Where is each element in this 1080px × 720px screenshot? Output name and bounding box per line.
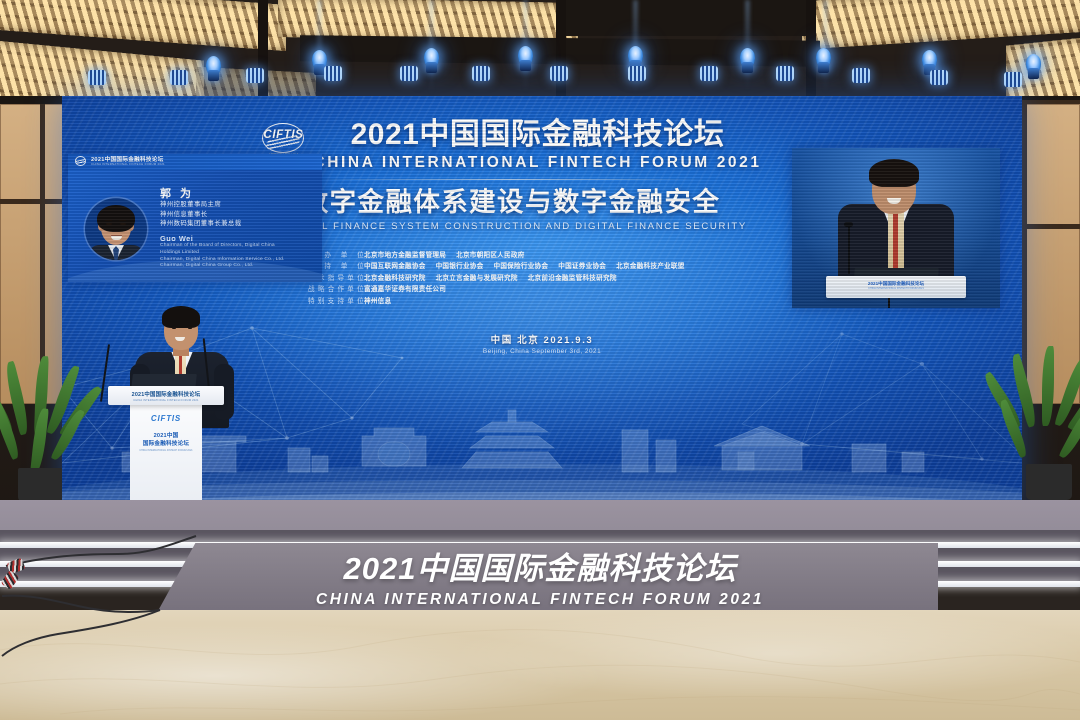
plant-pot [1026,464,1072,500]
speaker-title-cn: 神州信息董事长 [160,210,312,219]
organizer-values: 北京市地方金融监督管理局北京市朝阳区人民政府 [364,251,535,260]
par-can-light [930,70,948,85]
speaker-card-header-en: CHINA INTERNATIONAL FINTECH FORUM 2021 [91,163,165,167]
organizer-row: 主办单位 北京市地方金融监督管理局北京市朝阳区人民政府 [308,251,778,260]
podium-ciftis-logo-text: CIFTIS [120,414,212,423]
ceiling-dark-bay [560,0,810,36]
speaker-info-card: 2021中国国际金融科技论坛 CHINA INTERNATIONAL FINTE… [68,154,322,282]
microphone-stem [848,226,850,274]
organizer-key: 战略合作单位 [308,285,364,294]
wall-seam [0,199,66,204]
stage-light-fixture [816,48,831,72]
podium-front-cn2: 国际金融科技论坛 [120,439,212,447]
stage-light-fixture [424,48,439,72]
speaker-eye [188,327,192,329]
banner-divider [315,179,707,180]
video-podium: 2021中国国际金融科技论坛 CHINA INTERNATIONAL FINTE… [826,276,966,298]
organizer-values: 富通嘉华证券有限责任公司 [364,285,456,294]
speaker-eye [172,327,176,329]
organizer-key: 特别支持单位 [308,297,364,306]
par-can-light [472,66,490,81]
speaker-title-en: Holdings Limited [160,250,312,257]
light-beam [318,0,321,92]
speaker-name-en: Guo Wei [160,234,312,243]
avatar-portrait [85,198,147,260]
plant-pot [18,468,62,502]
speaker-card-header: 2021中国国际金融科技论坛 CHINA INTERNATIONAL FINTE… [68,154,322,170]
live-video-panel: 2021中国国际金融科技论坛 CHINA INTERNATIONAL FINTE… [792,148,1000,308]
forum-headline-cn: 2021中国国际金融科技论坛 [313,120,761,150]
forum-theme-en: DIGITAL FINANCE SYSTEM CONSTRUCTION AND … [281,221,741,232]
speaker-name-cn: 郭 为 [160,188,312,200]
speaker-title-cn: 神州数码集团董事长兼总裁 [160,219,312,228]
ceiling-light-panel [0,0,286,51]
speaker-eye [900,184,906,187]
potted-palm-right [1012,346,1080,506]
organizer-row: 学术指导单位 北京金融科技研究院北京立言金融与发展研究院北京前沿金融监管科技研究… [308,274,778,283]
par-can-light [776,66,794,81]
microphone-head [844,222,853,227]
par-can-light [170,70,188,85]
organizer-values: 北京金融科技研究院北京立言金融与发展研究院北京前沿金融监管科技研究院 [364,274,627,283]
organizer-row: 特别支持单位 神州信息 [308,297,778,306]
podium-front-cn: 2021中国 [120,431,212,439]
organizer-values: 中国互联网金融协会中国银行业协会中国保险行业协会中国证券业协会北京金融科技产业联… [364,262,695,271]
par-can-light [324,66,342,81]
par-can-light [1004,72,1022,87]
par-can-light [400,66,418,81]
organizer-values: 神州信息 [364,297,401,306]
light-beam [824,0,827,94]
speaker-hair [869,159,919,187]
potted-palm-left [2,356,76,506]
stage-light-fixture [740,48,755,72]
forum-headline-en: CHINA INTERNATIONAL FINTECH FORUM 2021 [313,153,761,172]
stage-cables [0,500,400,700]
speaker-details: 郭 为 神州控股董事局主席 神州信息董事长 神州数码集团董事长兼总裁 Guo W… [160,188,312,270]
organizer-row: 支持单位 中国互联网金融协会中国银行业协会中国保险行业协会中国证券业协会北京金融… [308,262,778,271]
stage-light-fixture [1026,54,1041,78]
speaker-avatar [85,198,147,260]
ciftis-logo-text: CIFTIS [260,129,306,141]
conference-stage-scene: CIFTIS 中国国际服务贸易交易会 2021中国国际金融科技论坛 CHINA … [0,0,1080,720]
speaker-hair [162,306,200,328]
par-can-light [852,68,870,83]
forum-theme-cn: 数字金融体系建设与数字金融安全 [281,189,741,217]
podium-nameplate-cn: 2021中国国际金融科技论坛 [108,390,224,398]
video-podium-label-en: CHINA INTERNATIONAL FINTECH FORUM 2021 [826,287,966,290]
stage-light-fixture [206,56,221,80]
podium-front-branding: CIFTIS 2021中国 国际金融科技论坛 CHINA INTERNATION… [120,414,212,452]
forum-banner: CIFTIS 中国国际服务贸易交易会 2021中国国际金融科技论坛 CHINA … [281,120,741,232]
podium-front-en: CHINA INTERNATIONAL FINTECH FORUM 2021 [120,449,212,452]
par-can-light [550,66,568,81]
organizer-list: 主办单位 北京市地方金融监督管理局北京市朝阳区人民政府 支持单位 中国互联网金融… [308,251,778,308]
par-can-light [88,70,106,85]
microphone-stem [888,298,890,308]
par-can-light [628,66,646,81]
light-beam [746,0,749,92]
organizer-row: 战略合作单位 富通嘉华证券有限责任公司 [308,285,778,294]
ciftis-mini-logo-icon [74,156,87,168]
par-can-light [246,68,264,83]
speaker-title-cn: 神州控股董事局主席 [160,200,312,209]
speaker-eye [881,184,887,187]
stage-light-fixture [518,46,533,70]
podium-nameplate-en: CHINA INTERNATIONAL FINTECH FORUM 2021 [108,399,224,402]
podium-nameplate: 2021中国国际金融科技论坛 CHINA INTERNATIONAL FINTE… [108,386,224,405]
speaker-title-en: Chairman of the Board of Directors, Digi… [160,243,312,250]
par-can-light [700,66,718,81]
